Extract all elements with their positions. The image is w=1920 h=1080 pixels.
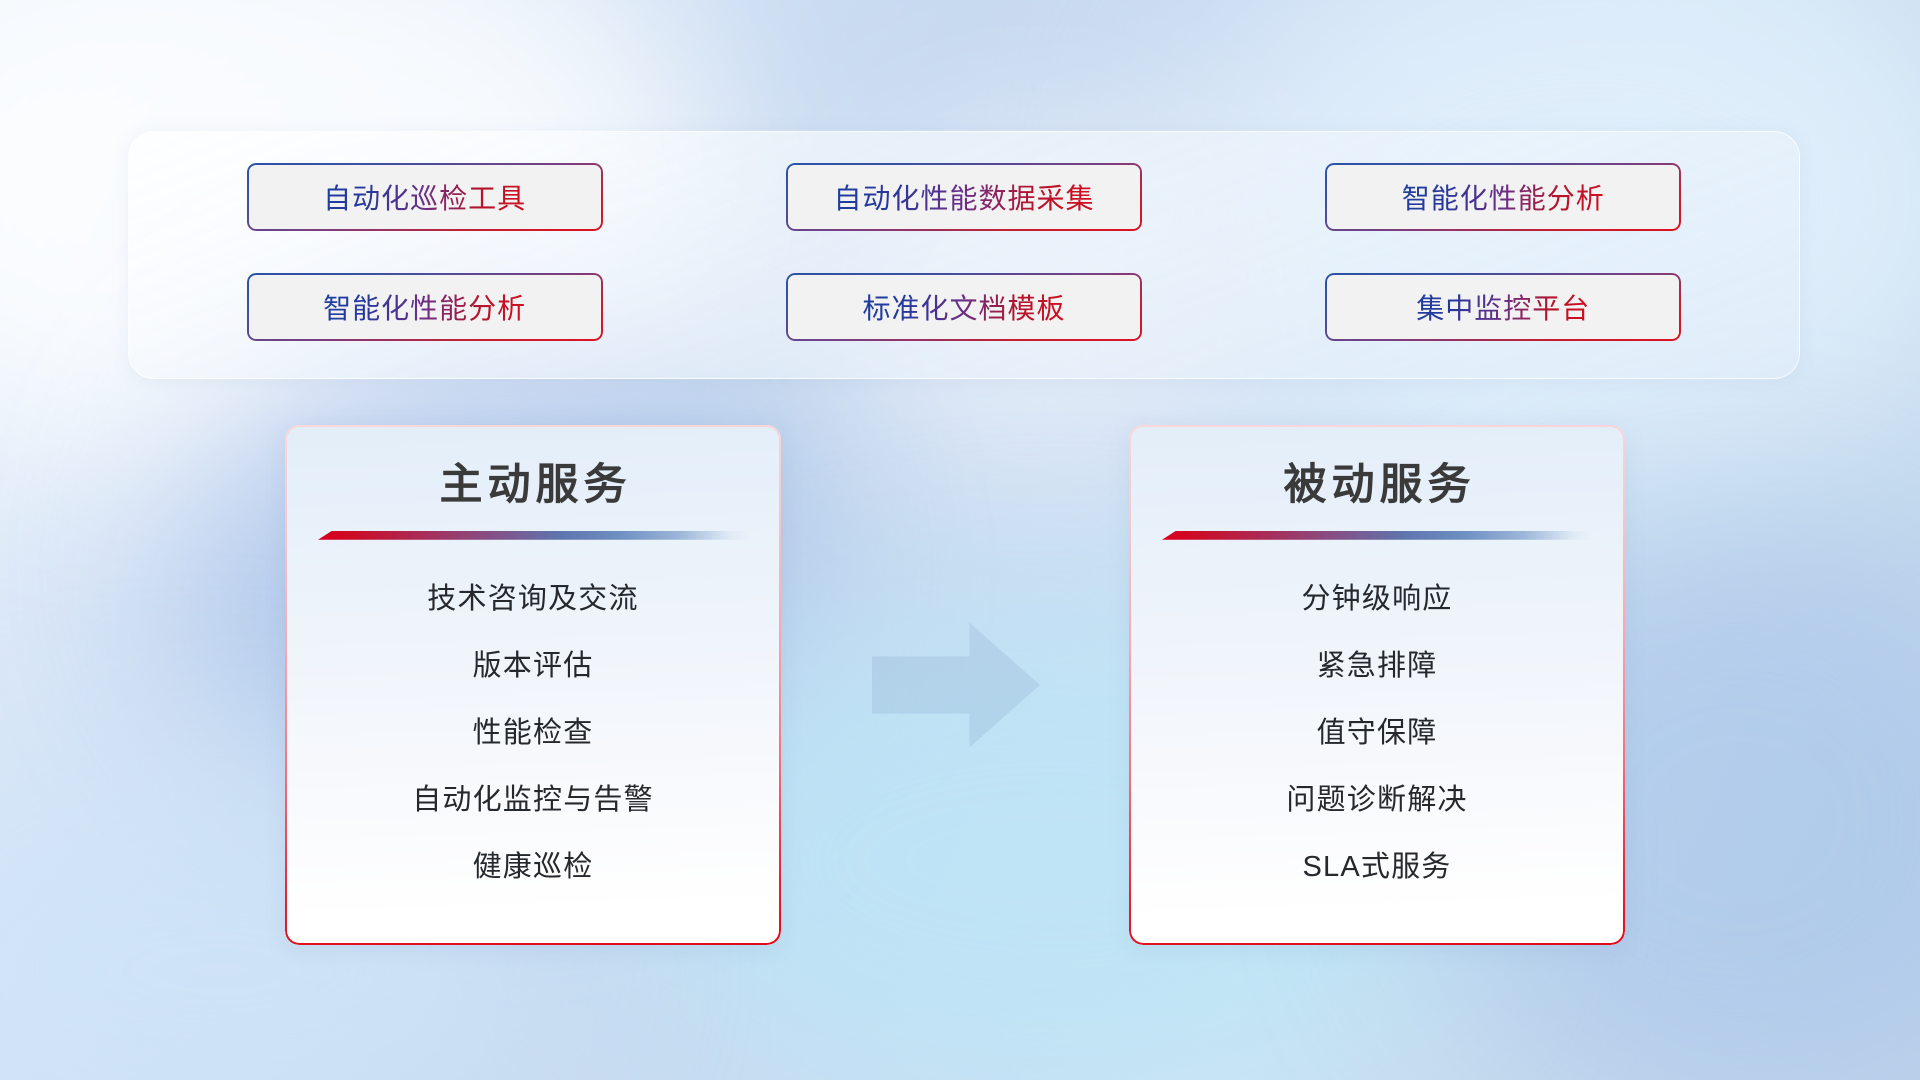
card-title: 主动服务: [435, 459, 632, 513]
capability-panel: 自动化巡检工具 自动化性能数据采集 智能化性能分析 智能化性能分析 标准化文档模…: [128, 131, 1800, 379]
capability-pill-intelligent-performance-analysis-b[interactable]: 智能化性能分析: [247, 273, 603, 341]
list-item[interactable]: 健康巡检: [473, 834, 594, 901]
list-item[interactable]: 紧急排障: [1317, 633, 1438, 700]
card-item-list: 技术咨询及交流 版本评估 性能检查 自动化监控与告警 健康巡检: [285, 566, 781, 901]
capability-pill-label: 自动化性能数据采集: [833, 177, 1094, 217]
capability-pill-standardized-document-template[interactable]: 标准化文档模板: [786, 273, 1142, 341]
card-title-divider: [1162, 531, 1592, 540]
list-item[interactable]: 分钟级响应: [1301, 566, 1452, 633]
list-item[interactable]: SLA式服务: [1302, 834, 1451, 901]
capability-pill-centralized-monitoring-platform[interactable]: 集中监控平台: [1325, 273, 1681, 341]
list-item[interactable]: 问题诊断解决: [1286, 767, 1467, 834]
capability-pill-intelligent-performance-analysis-a[interactable]: 智能化性能分析: [1325, 163, 1681, 231]
list-item[interactable]: 技术咨询及交流: [427, 566, 638, 633]
capability-pill-automated-performance-data-collection[interactable]: 自动化性能数据采集: [786, 163, 1142, 231]
list-item[interactable]: 值守保障: [1317, 700, 1438, 767]
card-item-list: 分钟级响应 紧急排障 值守保障 问题诊断解决 SLA式服务: [1129, 566, 1625, 901]
capability-pill-automated-inspection-tool[interactable]: 自动化巡检工具: [247, 163, 603, 231]
service-card-reactive[interactable]: 被动服务 分钟级响应 紧急排障 值守保障 问题诊断解决 SLA式服务: [1129, 425, 1625, 945]
capability-pill-label: 标准化文档模板: [862, 287, 1065, 327]
card-title: 被动服务: [1279, 459, 1476, 513]
list-item[interactable]: 性能检查: [473, 700, 594, 767]
list-item[interactable]: 版本评估: [473, 633, 594, 700]
capability-pill-label: 集中监控平台: [1416, 287, 1590, 327]
list-item[interactable]: 自动化监控与告警: [412, 767, 654, 834]
capability-pill-label: 自动化巡检工具: [323, 177, 526, 217]
capability-pill-label: 智能化性能分析: [323, 287, 526, 327]
service-card-proactive[interactable]: 主动服务 技术咨询及交流 版本评估 性能检查 自动化监控与告警 健康巡检: [285, 425, 781, 945]
capability-pill-label: 智能化性能分析: [1402, 177, 1605, 217]
card-title-divider: [318, 531, 748, 540]
